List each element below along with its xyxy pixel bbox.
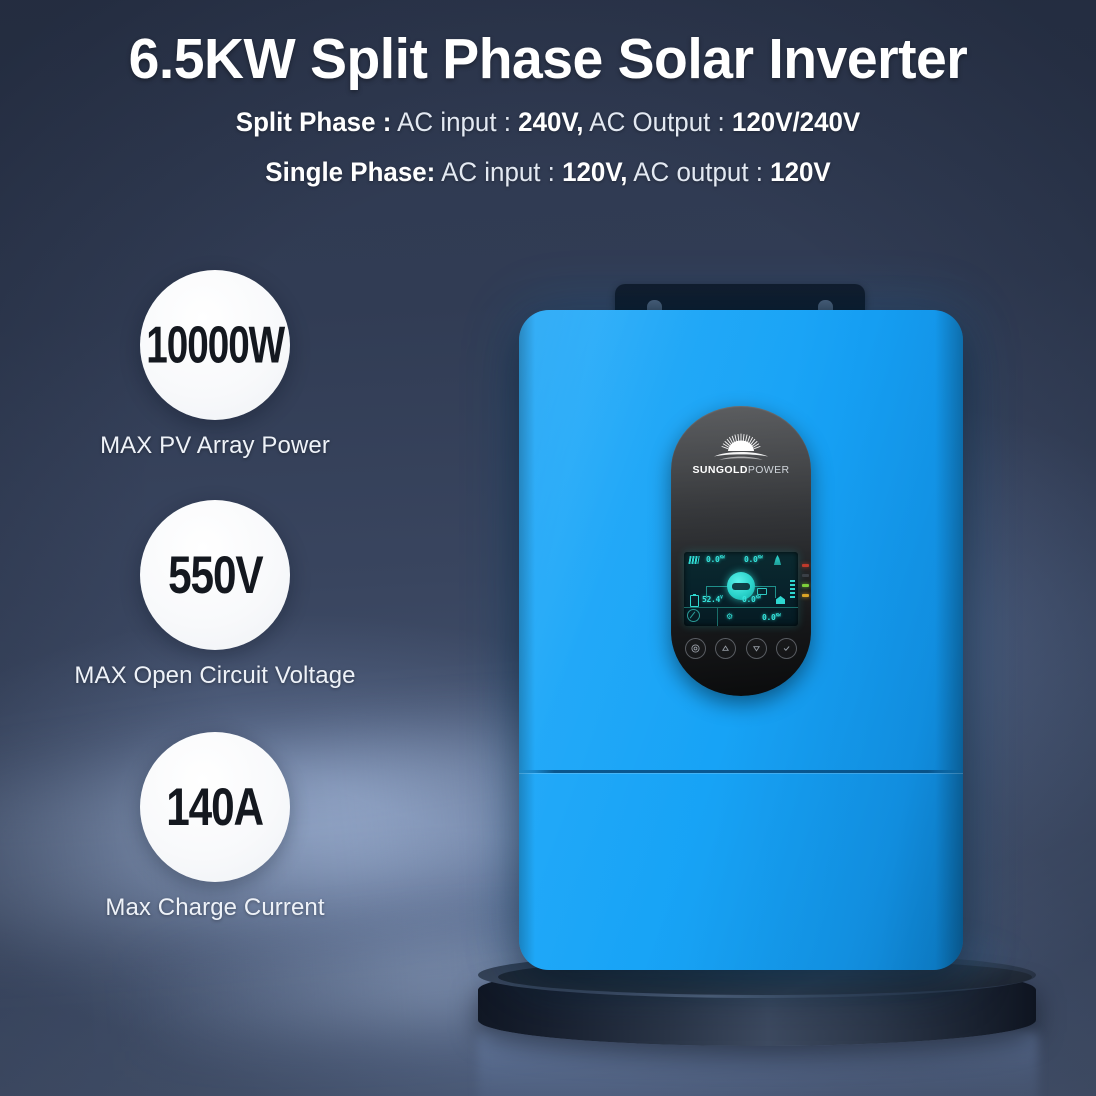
lcd-divider-vertical	[717, 607, 718, 626]
spec-line-single-phase: Single Phase: AC input : 120V, AC output…	[22, 159, 1074, 186]
lcd-divider	[684, 607, 798, 608]
lcd-inverter-box-icon	[757, 588, 767, 595]
led-spacer-a	[802, 574, 809, 577]
lcd-battery-voltage: 52.4V	[702, 595, 723, 604]
single-phase-input-label: AC input :	[441, 157, 555, 187]
body-left-shade	[519, 310, 535, 970]
single-phase-label: Single Phase:	[265, 157, 435, 187]
sunburst-icon	[710, 432, 772, 462]
down-button[interactable]	[746, 638, 767, 659]
inverter-body: SUNGOLDPOWER 0.0KW 0.0KW 52.	[519, 310, 963, 970]
feature-circle: 140A	[140, 732, 290, 882]
battery-icon	[690, 595, 699, 607]
charge-led	[802, 584, 809, 587]
single-phase-input-value: 120V,	[562, 157, 627, 187]
lcd-signal-bars	[790, 580, 795, 600]
single-phase-output-value: 120V	[770, 157, 831, 187]
lcd-grid-power: 0.0KW	[744, 555, 762, 564]
control-button-row	[685, 638, 797, 659]
spec-line-split-phase: Split Phase : AC input : 240V, AC Output…	[22, 109, 1074, 136]
fault-led	[802, 564, 809, 567]
brand-wordmark: SUNGOLDPOWER	[671, 464, 811, 476]
lcd-display: 0.0KW 0.0KW 52.4V 0.0KW ⚙	[684, 552, 798, 626]
feature-caption: MAX Open Circuit Voltage	[0, 662, 430, 690]
house-icon	[776, 596, 785, 604]
escape-button[interactable]	[685, 638, 706, 659]
lcd-load-power: 0.0KW	[742, 595, 760, 604]
feature-value: 140A	[167, 776, 264, 838]
settings-gear-icon: ⚙	[726, 613, 733, 621]
feature-circle: 10000W	[140, 270, 290, 420]
split-phase-input-label: AC input :	[397, 107, 511, 137]
lcd-pv-power: 0.0KW	[706, 555, 724, 564]
feature-badge-max-charge-current: 140A Max Charge Current	[0, 732, 430, 962]
grid-tower-icon	[773, 555, 782, 565]
pv-panel-icon	[688, 556, 699, 564]
led-indicator-group	[802, 564, 809, 604]
brand-name-secondary: POWER	[748, 464, 790, 476]
product-marketing-banner: 6.5KW Split Phase Solar Inverter Split P…	[0, 0, 1096, 1096]
solar-inverter-product: SUNGOLDPOWER 0.0KW 0.0KW 52.	[519, 284, 963, 974]
feature-caption: Max Charge Current	[0, 894, 430, 922]
body-seam-line	[519, 770, 963, 773]
split-phase-label: Split Phase :	[236, 107, 392, 137]
panel-gloss	[671, 406, 811, 557]
feature-circle: 550V	[140, 500, 290, 650]
feature-badge-max-pv-array-power: 10000W MAX PV Array Power	[0, 270, 430, 500]
split-phase-output-value: 120V/240V	[732, 107, 860, 137]
feature-badge-max-open-circuit-voltage: 550V MAX Open Circuit Voltage	[0, 500, 430, 732]
up-button[interactable]	[715, 638, 736, 659]
body-right-shade	[935, 310, 963, 970]
control-panel: SUNGOLDPOWER 0.0KW 0.0KW 52.	[671, 406, 811, 696]
header: 6.5KW Split Phase Solar Inverter Split P…	[0, 0, 1096, 186]
feature-badge-list: 10000W MAX PV Array Power 550V MAX Open …	[0, 270, 430, 962]
split-phase-output-label: AC Output :	[589, 107, 724, 137]
status-led	[802, 594, 809, 597]
feature-value: 10000W	[146, 315, 284, 375]
lcd-bottom-value: 0.0KW	[762, 613, 780, 622]
enter-button[interactable]	[776, 638, 797, 659]
brand-logo: SUNGOLDPOWER	[671, 432, 811, 476]
split-phase-input-value: 240V,	[518, 107, 583, 137]
brand-name-primary: SUNGOLD	[693, 464, 748, 476]
single-phase-output-label: AC output :	[633, 157, 763, 187]
page-title: 6.5KW Split Phase Solar Inverter	[16, 0, 1079, 90]
status-ok-icon	[687, 609, 700, 622]
lcd-wire-right	[775, 586, 776, 598]
feature-value: 550V	[168, 544, 262, 606]
feature-caption: MAX PV Array Power	[0, 432, 430, 460]
